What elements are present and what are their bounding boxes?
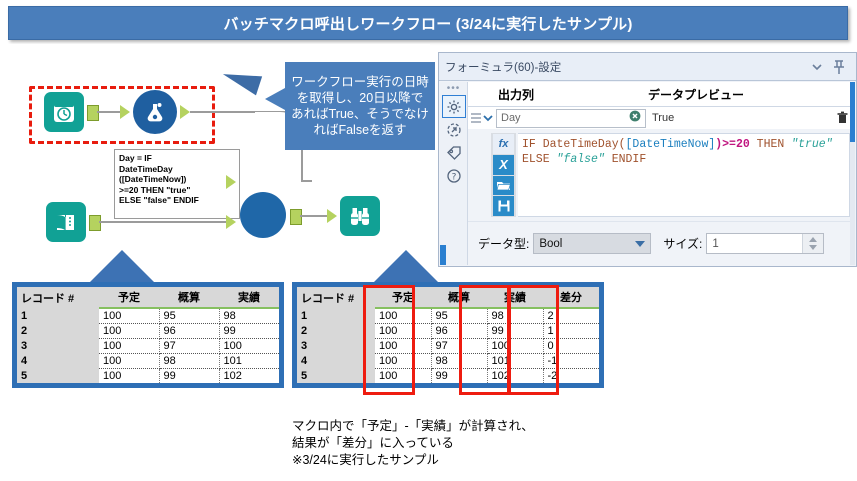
table-row: 1 100 95 98 2 xyxy=(297,308,599,324)
cell-gaisan: 95 xyxy=(159,308,219,324)
panel-header: フォーミュラ(60)-設定 xyxy=(439,53,856,81)
formula-editor[interactable]: IF DateTimeDay([DateTimeNow])>=20 THEN "… xyxy=(518,133,850,217)
table-row: 5 100 99 102 xyxy=(17,369,279,384)
book-icon xyxy=(46,202,86,242)
cell-gaisan: 96 xyxy=(431,324,487,339)
batch-macro-tool[interactable] xyxy=(240,192,286,238)
formula-l1-str: "true" xyxy=(791,138,832,151)
arrow-circle-icon[interactable] xyxy=(442,118,466,141)
input-table-frame: レコード # 予定 概算 実績 1 100 95 98 2 100 96 99 xyxy=(12,282,284,388)
col-header-jisseki: 実績 xyxy=(219,287,279,308)
panel-icon-rail: ••• xyxy=(440,82,468,265)
gear-icon[interactable] xyxy=(442,95,466,118)
cell-yotei: 100 xyxy=(99,339,159,354)
table-row: 4 100 98 101 xyxy=(17,354,279,369)
output-column-grid: 出力列 データプレビュー Day xyxy=(468,82,855,132)
cell-gaisan: 98 xyxy=(159,354,219,369)
cell-gaisan: 98 xyxy=(431,354,487,369)
col-header-jisseki: 実績 xyxy=(487,287,543,308)
formula-l1-pre: IF DateTimeDay( xyxy=(522,138,626,151)
cell-yotei: 100 xyxy=(375,339,431,354)
size-value: 1 xyxy=(712,238,718,250)
macro-input1-anchor[interactable] xyxy=(226,175,236,189)
cell-gaisan: 95 xyxy=(431,308,487,324)
grid-row: Day True xyxy=(468,107,855,129)
binoculars-icon xyxy=(340,196,380,236)
cell-record: 2 xyxy=(297,324,375,339)
cell-sabun: -2 xyxy=(543,369,599,384)
flask-icon xyxy=(133,90,177,134)
page-title-bar: バッチマクロ呼出しワークフロー (3/24に実行したサンプル) xyxy=(8,6,848,40)
cell-record: 1 xyxy=(297,308,375,324)
formula-l1-then: THEN xyxy=(750,138,791,151)
panel-footer: データ型: Bool サイズ: 1 xyxy=(468,221,855,265)
table-row: 2 100 96 99 1 xyxy=(297,324,599,339)
cell-sabun: -1 xyxy=(543,354,599,369)
formula-l2-end: ENDIF xyxy=(605,153,646,166)
cell-yotei: 100 xyxy=(375,369,431,384)
cell-jisseki: 98 xyxy=(487,308,543,324)
output-table: レコード # 予定 概算 実績 差分 1 100 95 98 2 2 100 xyxy=(297,287,599,383)
formula-tool[interactable] xyxy=(133,90,177,134)
cell-gaisan: 99 xyxy=(159,369,219,384)
table-row: 5 100 99 102 -2 xyxy=(297,369,599,384)
datatype-label: データ型: xyxy=(478,235,529,252)
cell-yotei: 100 xyxy=(375,324,431,339)
col-header-yotei: 予定 xyxy=(99,287,159,308)
input-data-tool[interactable] xyxy=(46,202,86,242)
col-header-sabun: 差分 xyxy=(543,287,599,308)
chevron-down-icon[interactable] xyxy=(806,56,828,78)
cell-jisseki: 98 xyxy=(219,308,279,324)
circle-icon xyxy=(240,192,286,238)
scrollbar-thumb[interactable] xyxy=(850,82,855,142)
formula-l1-op: )>=20 xyxy=(715,138,750,151)
col-header-record: レコード # xyxy=(297,287,375,308)
table-row: 2 100 96 99 xyxy=(17,324,279,339)
cell-record: 4 xyxy=(297,354,375,369)
wire-macro-browse xyxy=(300,215,328,217)
cell-record: 1 xyxy=(17,308,99,324)
rail-dots-icon: ••• xyxy=(447,84,461,94)
cell-yotei: 100 xyxy=(99,369,159,384)
formula-l1-field: [DateTimeNow] xyxy=(626,138,716,151)
clock-icon xyxy=(44,92,84,132)
size-label: サイズ: xyxy=(663,235,702,252)
grid-col-header-preview: データプレビュー xyxy=(642,82,829,106)
formula-l2-str: "false" xyxy=(557,153,605,166)
col-header-gaisan: 概算 xyxy=(159,287,219,308)
cell-yotei: 100 xyxy=(375,354,431,369)
table-header-row: レコード # 予定 概算 実績 差分 xyxy=(297,287,599,308)
table-row: 3 100 97 100 0 xyxy=(297,339,599,354)
cell-jisseki: 99 xyxy=(219,324,279,339)
table-row: 3 100 97 100 xyxy=(17,339,279,354)
callout-tail xyxy=(265,88,285,110)
panel-left-marker xyxy=(440,245,446,265)
browse-input-anchor[interactable] xyxy=(327,209,337,223)
formula-input-anchor[interactable] xyxy=(120,105,130,119)
cell-gaisan: 97 xyxy=(159,339,219,354)
drag-handle-icon[interactable] xyxy=(468,113,482,123)
cell-sabun: 1 xyxy=(543,324,599,339)
variable-icon[interactable]: X xyxy=(493,155,514,175)
table-row: 4 100 98 101 -1 xyxy=(297,354,599,369)
input-table: レコード # 予定 概算 実績 1 100 95 98 2 100 96 99 xyxy=(17,287,279,383)
cell-yotei: 100 xyxy=(99,324,159,339)
macro-output-anchor[interactable] xyxy=(290,209,302,225)
datatype-value: Bool xyxy=(539,238,562,250)
cell-yotei: 100 xyxy=(99,354,159,369)
fx-icon[interactable]: fx xyxy=(493,134,514,154)
output-table-frame: レコード # 予定 概算 実績 差分 1 100 95 98 2 2 100 xyxy=(292,282,604,388)
cell-record: 5 xyxy=(17,369,99,384)
cell-jisseki: 101 xyxy=(487,354,543,369)
formula-output-anchor[interactable] xyxy=(180,105,190,119)
caption-text: マクロ内で「予定」-「実績」が計算され、 結果が「差分」に入っている ※3/24… xyxy=(292,418,622,469)
output-column-input[interactable]: Day xyxy=(496,109,646,128)
grid-header: 出力列 データプレビュー xyxy=(468,82,855,107)
formula-config-panel: フォーミュラ(60)-設定 ••• xyxy=(438,52,857,267)
clear-icon[interactable] xyxy=(629,109,641,127)
col-header-gaisan: 概算 xyxy=(431,287,487,308)
cell-record: 2 xyxy=(17,324,99,339)
col-header-yotei: 予定 xyxy=(375,287,431,308)
input-output-anchor[interactable] xyxy=(89,215,101,231)
cell-sabun: 0 xyxy=(543,339,599,354)
output-column-value: Day xyxy=(501,112,629,124)
select-caret-icon xyxy=(635,241,645,247)
save-icon[interactable] xyxy=(493,196,514,216)
browse-tool[interactable] xyxy=(340,196,380,236)
input-table-pointer xyxy=(88,250,156,284)
screenshot-root: バッチマクロ呼出しワークフロー (3/24に実行したサンプル) xyxy=(0,0,857,481)
cell-gaisan: 97 xyxy=(431,339,487,354)
row-chevron-down-icon[interactable] xyxy=(482,112,494,124)
size-stepper[interactable]: 1 xyxy=(706,233,824,254)
table-row: 1 100 95 98 xyxy=(17,308,279,324)
panel-title: フォーミュラ(60)-設定 xyxy=(445,59,806,75)
cell-sabun: 2 xyxy=(543,308,599,324)
cell-jisseki: 101 xyxy=(219,354,279,369)
cell-record: 5 xyxy=(297,369,375,384)
cell-jisseki: 100 xyxy=(487,339,543,354)
cell-jisseki: 100 xyxy=(219,339,279,354)
cell-yotei: 100 xyxy=(375,308,431,324)
svg-text:?: ? xyxy=(451,172,456,182)
pin-icon[interactable] xyxy=(828,56,850,78)
cell-record: 3 xyxy=(297,339,375,354)
output-table-pointer xyxy=(372,250,440,284)
tag-icon[interactable] xyxy=(442,141,466,164)
callout-text: ワークフロー実行の日時を取得し、20日以降であればTrue、そうでなければFal… xyxy=(291,74,429,138)
formula-line-1: IF DateTimeDay([DateTimeNow])>=20 THEN "… xyxy=(522,137,845,152)
page-title: バッチマクロ呼出しワークフロー (3/24に実行したサンプル) xyxy=(223,13,632,34)
wire-formula-macro-h xyxy=(190,111,255,113)
workflow-canvas[interactable]: Day = IF DateTimeDay ([DateTimeNow]) >=2… xyxy=(0,44,430,284)
grid-col-header-output: 出力列 xyxy=(492,82,642,106)
formula-line-2: ELSE "false" ENDIF xyxy=(522,152,845,167)
cell-jisseki: 102 xyxy=(487,369,543,384)
formula-tooltip-box: Day = IF DateTimeDay ([DateTimeNow]) >=2… xyxy=(114,149,240,219)
cell-record: 4 xyxy=(17,354,99,369)
cell-jisseki: 99 xyxy=(487,324,543,339)
input-table-body: 1 100 95 98 2 100 96 99 3 100 97 100 xyxy=(17,308,279,383)
col-header-record: レコード # xyxy=(17,287,99,308)
datetime-output-anchor[interactable] xyxy=(87,105,99,121)
macro-input2-anchor[interactable] xyxy=(226,215,236,229)
table-header-row: レコード # 予定 概算 実績 xyxy=(17,287,279,308)
datatype-select[interactable]: Bool xyxy=(533,233,651,254)
formula-l2-else: ELSE xyxy=(522,153,557,166)
cell-gaisan: 99 xyxy=(431,369,487,384)
wire-datetime-formula xyxy=(97,111,122,113)
stepper-arrows-icon[interactable] xyxy=(802,234,823,253)
help-icon[interactable]: ? xyxy=(442,164,466,187)
cell-gaisan: 96 xyxy=(159,324,219,339)
callout-box: ワークフロー実行の日時を取得し、20日以降であればTrue、そうでなければFal… xyxy=(285,62,435,150)
panel-scrollbar[interactable] xyxy=(850,82,855,265)
folder-open-icon[interactable] xyxy=(493,176,514,196)
output-table-body: 1 100 95 98 2 2 100 96 99 1 3 100 97 xyxy=(297,308,599,383)
datetime-now-tool[interactable] xyxy=(44,92,84,132)
cell-yotei: 100 xyxy=(99,308,159,324)
cell-record: 3 xyxy=(17,339,99,354)
formula-toolbar: fx X xyxy=(491,133,516,217)
data-preview-value: True xyxy=(646,112,829,124)
cell-jisseki: 102 xyxy=(219,369,279,384)
wire-input-macro xyxy=(99,221,227,223)
callout-arrow xyxy=(220,65,262,96)
